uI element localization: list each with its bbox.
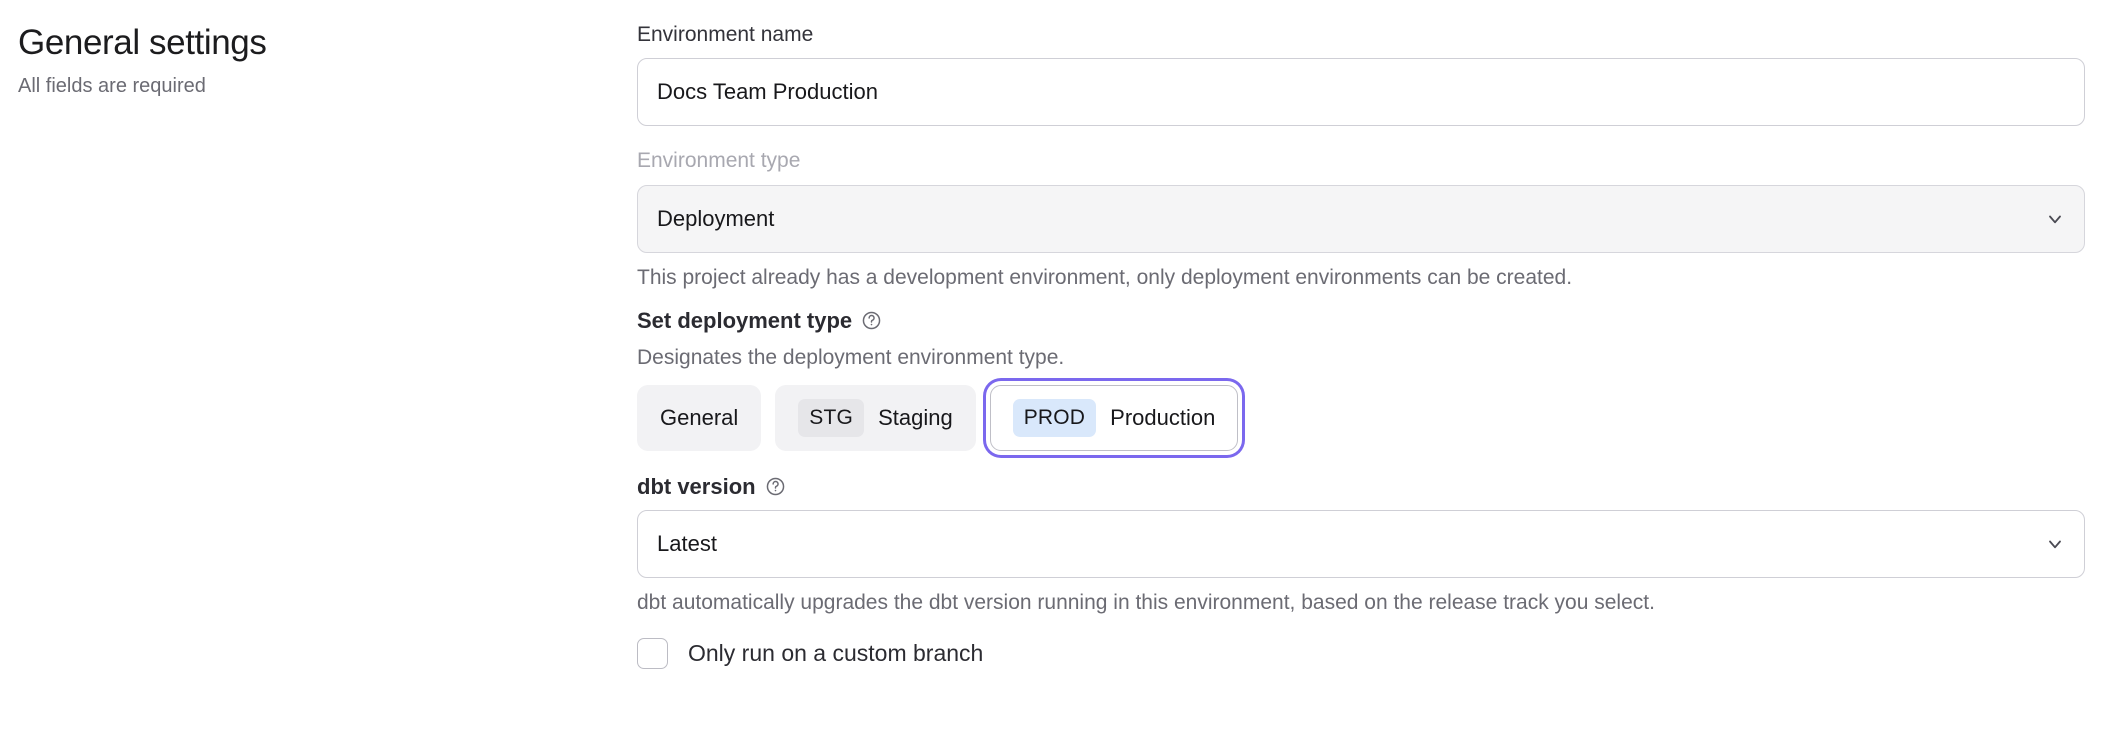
chevron-down-icon xyxy=(2045,209,2065,229)
deployment-type-production-button[interactable]: PROD Production xyxy=(990,385,1239,451)
environment-type-label: Environment type xyxy=(637,148,2085,174)
dbt-version-label-row: dbt version xyxy=(637,473,2085,501)
question-circle-icon[interactable] xyxy=(765,476,786,497)
dbt-version-field: dbt version Latest dbt automati xyxy=(637,473,2085,617)
custom-branch-label: Only run on a custom branch xyxy=(688,640,983,668)
custom-branch-checkbox[interactable] xyxy=(637,638,668,669)
settings-form: Environment name Docs Team Production En… xyxy=(637,22,2085,669)
deployment-type-heading-row: Set deployment type xyxy=(637,307,2085,335)
environment-name-field: Environment name Docs Team Production xyxy=(637,22,2085,126)
settings-header: General settings All fields are required xyxy=(18,22,578,99)
environment-type-value: Deployment xyxy=(657,206,774,232)
page-title: General settings xyxy=(18,22,578,64)
deployment-type-description: Designates the deployment environment ty… xyxy=(637,344,2085,371)
page-subtitle: All fields are required xyxy=(18,73,578,99)
environment-type-help-text: This project already has a development e… xyxy=(637,264,2085,291)
environment-name-input[interactable]: Docs Team Production xyxy=(637,58,2085,126)
dbt-version-value: Latest xyxy=(657,531,717,557)
production-badge: PROD xyxy=(1013,399,1096,437)
chevron-down-icon xyxy=(2045,534,2065,554)
staging-badge: STG xyxy=(798,399,864,437)
deployment-type-general-label: General xyxy=(660,405,738,431)
deployment-type-general-button[interactable]: General xyxy=(637,385,761,451)
deployment-type-staging-button[interactable]: STG Staging xyxy=(775,385,975,451)
deployment-type-heading: Set deployment type xyxy=(637,307,852,335)
deployment-type-options: General STG Staging PROD Production xyxy=(637,385,2085,451)
environment-name-label: Environment name xyxy=(637,22,2085,48)
dbt-version-select[interactable]: Latest xyxy=(637,510,2085,578)
deployment-type-section: Set deployment type Designates the deplo… xyxy=(637,307,2085,451)
dbt-version-help-text: dbt automatically upgrades the dbt versi… xyxy=(637,589,2085,616)
custom-branch-row[interactable]: Only run on a custom branch xyxy=(637,638,2085,669)
dbt-version-label: dbt version xyxy=(637,473,756,501)
environment-type-select[interactable]: Deployment xyxy=(637,185,2085,253)
question-circle-icon[interactable] xyxy=(861,310,882,331)
environment-type-field: Environment type Deployment This project… xyxy=(637,148,2085,291)
deployment-type-production-label: Production xyxy=(1110,405,1215,431)
general-settings-page: General settings All fields are required… xyxy=(0,0,2110,742)
deployment-type-staging-label: Staging xyxy=(878,405,953,431)
